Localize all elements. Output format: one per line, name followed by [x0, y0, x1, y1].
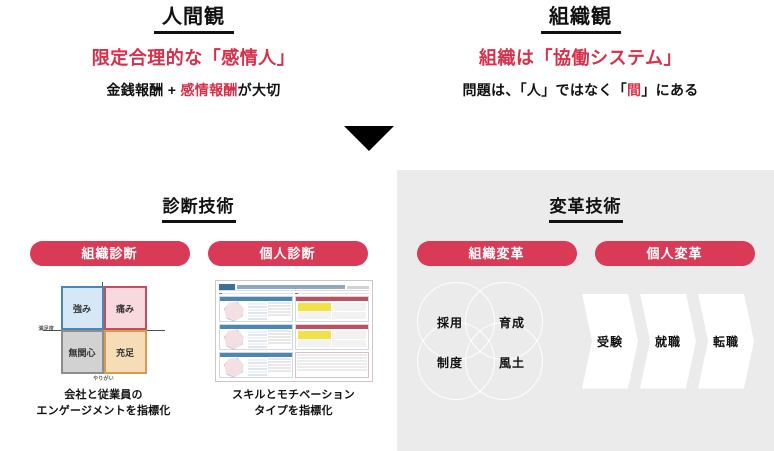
header-underline-human-view	[154, 31, 234, 34]
report-text-block	[268, 302, 291, 320]
chevron-career-change: 転職	[698, 294, 754, 389]
caption-engagement: 会社と従業員の エンゲージメントを指標化	[24, 388, 184, 420]
report-row-list	[248, 330, 267, 348]
header-title-human-view: 人間観	[0, 6, 387, 28]
chevron-flow: 受験 就職 転職	[582, 294, 756, 389]
caption-skill-motivation: スキルとモチベーション タイプを指標化	[214, 388, 374, 420]
report-body	[219, 296, 369, 378]
report-quadrant-left	[296, 301, 368, 321]
pill-row-transformation: 組織変革 個人変革	[397, 241, 774, 266]
report-left-column	[219, 296, 293, 378]
matrix-axis-y-label: 満足度	[39, 325, 55, 332]
header-sub-suffix-organization-view: 」にある	[641, 82, 698, 98]
report-text-block	[268, 330, 291, 348]
panel-underline-diagnosis	[162, 220, 236, 223]
engagement-matrix-thumbnail: 強み 痛み 無関心 充足 やりがい 満足度	[39, 280, 169, 382]
report-card-radar-1	[219, 296, 293, 322]
header-sub-organization-view: 問題は、「人」ではなく「間」にある	[387, 82, 774, 99]
transformation-content: 採用 育成 制度 風土 受験 就職 転職	[397, 282, 774, 400]
chevron-exam: 受験	[582, 294, 638, 389]
report-card-inner	[220, 329, 292, 349]
panel-title-diagnosis: 診断技術	[0, 170, 397, 217]
report-meta-bar	[347, 286, 369, 289]
pill-organization-transformation[interactable]: 組織変革	[417, 241, 577, 266]
header-sub-prefix-human-view: 金銭報酬 +	[106, 82, 180, 98]
pill-individual-transformation[interactable]: 個人変革	[595, 241, 755, 266]
header-underline-organization-view	[541, 31, 621, 34]
matrix-quadrant-pain: 痛み	[104, 286, 147, 330]
report-card-inner	[220, 301, 292, 321]
panel-diagnosis-technology: 診断技術 組織診断 個人診断 強み 痛み 無関心 充足 やりがい 満足度 会社と…	[0, 170, 397, 451]
report-section-bar-red	[295, 293, 369, 294]
report-section-bar-blue	[219, 293, 293, 294]
venn-diagram: 採用 育成 制度 風土	[415, 282, 580, 400]
venn-label-system: 制度	[437, 354, 463, 371]
matrix-quadrant-indifference: 無関心	[61, 330, 104, 374]
header-lead-human-view: 限定合理的な「感情人」	[0, 48, 387, 70]
venn-label-culture: 風土	[499, 354, 525, 371]
header-sub-prefix-organization-view: 問題は、「人」ではなく「	[462, 82, 627, 98]
thumbnail-block-engagement: 強み 痛み 無関心 充足 やりがい 満足度 会社と従業員の エンゲージメントを指…	[24, 280, 184, 420]
matrix-axis-x-label: やりがい	[93, 375, 114, 382]
report-card-radar-3	[219, 352, 293, 378]
header-sub-human-view: 金銭報酬 + 感情報酬が大切	[0, 82, 387, 99]
panel-transformation-technology: 変革技術 組織変革 個人変革 採用 育成 制度 風土 受験 就職 転職	[397, 170, 774, 451]
pill-individual-diagnosis[interactable]: 個人診断	[208, 241, 368, 266]
matrix-quadrant-fulfillment: 充足	[104, 330, 147, 374]
diagnosis-thumbnails: 強み 痛み 無関心 充足 やりがい 満足度 会社と従業員の エンゲージメントを指…	[0, 280, 397, 420]
pill-row-diagnosis: 組織診断 個人診断	[0, 241, 397, 266]
report-card-inner	[220, 357, 292, 377]
report-card-quadrants	[295, 296, 369, 322]
radar-chart-icon	[221, 302, 247, 320]
chevron-employment: 就職	[640, 294, 696, 389]
venn-label-development: 育成	[499, 314, 525, 331]
report-right-column	[295, 296, 369, 378]
report-header	[219, 284, 369, 291]
matrix-quadrant-strength: 強み	[61, 286, 104, 330]
header-sub-accent-human-view: 感情報酬	[180, 82, 237, 98]
header-sub-suffix-human-view: が大切	[238, 82, 281, 98]
skill-report-thumbnail	[215, 280, 373, 382]
panel-underline-transformation	[549, 220, 623, 223]
radar-chart-icon	[221, 330, 247, 348]
header-lead-organization-view: 組織は「協働システム」	[387, 48, 774, 70]
pill-organization-diagnosis[interactable]: 組織診断	[30, 241, 190, 266]
thumbnail-block-skill-report: スキルとモチベーション タイプを指標化	[214, 280, 374, 420]
report-quadrant-right	[296, 329, 368, 349]
panel-title-transformation: 変革技術	[397, 170, 774, 217]
header-column-organization-view: 組織観 組織は「協働システム」 問題は、「人」ではなく「間」にある	[387, 0, 774, 120]
report-title-bar	[237, 285, 345, 289]
report-card-quadrants-2	[295, 324, 369, 350]
report-section-bars	[219, 293, 369, 294]
down-arrow-icon	[344, 126, 394, 151]
report-text-block	[268, 358, 291, 376]
radar-chart-icon	[221, 358, 247, 376]
report-logo-icon	[219, 284, 235, 290]
report-card-radar-2	[219, 324, 293, 350]
matrix-grid: 強み 痛み 無関心 充足	[61, 286, 147, 374]
header-title-organization-view: 組織観	[387, 6, 774, 28]
report-note-block	[295, 352, 369, 378]
venn-label-recruitment: 採用	[437, 314, 463, 331]
header-column-human-view: 人間観 限定合理的な「感情人」 金銭報酬 + 感情報酬が大切	[0, 0, 387, 120]
header-sub-accent-organization-view: 間	[627, 82, 641, 98]
report-row-list	[248, 358, 267, 376]
report-row-list	[248, 302, 267, 320]
